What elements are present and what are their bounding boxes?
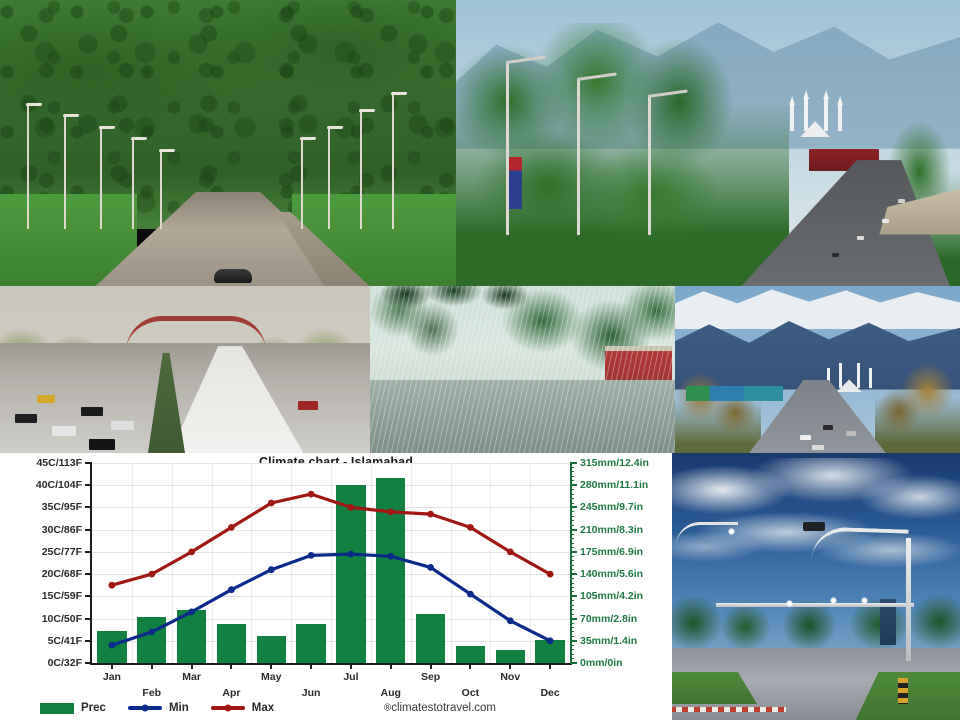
- street-lamp-icon: [328, 126, 330, 229]
- legend-label-prec: Prec: [81, 702, 106, 714]
- right-minor-tick: [570, 649, 574, 650]
- x-axis-label: Jun: [302, 687, 321, 699]
- right-minor-tick: [570, 471, 574, 472]
- bottom-axis: [90, 663, 572, 665]
- right-tick: [570, 573, 577, 575]
- right-minor-tick: [570, 560, 574, 561]
- x-axis-label: Feb: [142, 687, 161, 699]
- lamp-light-icon: [830, 597, 837, 604]
- vehicle: [298, 401, 318, 410]
- left-tick: [85, 573, 92, 575]
- x-axis-label: May: [261, 671, 281, 683]
- x-tick: [390, 663, 392, 669]
- right-minor-tick: [570, 525, 574, 526]
- climate-chart: Climate chart - Islamabad 0C/32F5C/41F10…: [0, 453, 672, 720]
- street-lamp-row: [0, 0, 456, 286]
- right-tick-label: 70mm/2.8in: [580, 613, 637, 625]
- street-lamp-icon: [132, 137, 134, 229]
- left-tick-label: 5C/41F: [48, 635, 82, 647]
- right-minor-tick: [570, 645, 574, 646]
- right-minor-tick: [570, 587, 574, 588]
- right-minor-tick: [570, 498, 574, 499]
- chart-credit: ®climatestotravel.com: [384, 702, 496, 714]
- x-tick: [310, 663, 312, 669]
- street-lamp-icon: [160, 149, 162, 229]
- x-axis-label: Jul: [343, 671, 358, 683]
- left-tick-label: 15C/59F: [42, 590, 82, 602]
- street-lamp-icon: [100, 126, 102, 229]
- street-lamp-icon: [676, 522, 738, 546]
- street-lamp-icon: [360, 109, 362, 229]
- x-axis-label: Oct: [462, 687, 480, 699]
- legend-item-min: Min: [128, 702, 189, 714]
- right-tick-label: 175mm/6.9in: [580, 546, 643, 558]
- lamp-post-banner: [509, 157, 522, 209]
- right-tick-label: 280mm/11.1in: [580, 479, 648, 491]
- left-tick: [85, 595, 92, 597]
- legend-label-min: Min: [169, 702, 189, 714]
- left-tick: [85, 529, 92, 531]
- street-lamp-icon: [577, 80, 580, 234]
- right-tick-label: 140mm/5.6in: [580, 568, 643, 580]
- gantry-camera-box: [803, 522, 825, 531]
- right-minor-tick: [570, 489, 574, 490]
- street-lamp-icon: [392, 92, 394, 229]
- min-data-point: [467, 591, 474, 598]
- legend-label-max: Max: [252, 702, 274, 714]
- x-axis-label: Dec: [540, 687, 559, 699]
- photo-boulevard-with-faisal-mosque: [456, 0, 960, 286]
- right-minor-tick: [570, 503, 574, 504]
- right-minor-tick: [570, 623, 574, 624]
- left-tick: [85, 662, 92, 664]
- right-minor-tick: [570, 543, 574, 544]
- credit-text: climatestotravel.com: [391, 702, 496, 714]
- highway-signboard: [686, 386, 783, 401]
- street-lamp-icon: [27, 103, 29, 229]
- right-minor-tick: [570, 480, 574, 481]
- right-tick-label: 35mm/1.4in: [580, 635, 637, 647]
- left-tick: [85, 484, 92, 486]
- x-tick: [191, 663, 193, 669]
- left-tick: [85, 640, 92, 642]
- vehicle: [857, 236, 864, 240]
- right-minor-tick: [570, 516, 574, 517]
- right-minor-tick: [570, 627, 574, 628]
- right-tick: [570, 662, 577, 664]
- rain-streaks: [370, 286, 675, 453]
- max-data-point: [308, 491, 315, 498]
- vehicle: [800, 435, 811, 440]
- x-tick: [509, 663, 511, 669]
- x-axis-label: Aug: [381, 687, 401, 699]
- right-minor-tick: [570, 614, 574, 615]
- max-data-point: [228, 524, 235, 531]
- max-data-point: [188, 549, 195, 556]
- x-axis-label: Jan: [103, 671, 121, 683]
- treeline: [670, 587, 960, 651]
- left-tick-label: 25C/77F: [42, 546, 82, 558]
- right-minor-tick: [570, 600, 574, 601]
- prec-swatch-icon: [40, 703, 74, 714]
- min-data-point: [109, 642, 116, 649]
- right-minor-tick: [570, 467, 574, 468]
- right-minor-tick: [570, 534, 574, 535]
- lamp-light-icon: [728, 528, 735, 535]
- right-tick-label: 315mm/12.4in: [580, 457, 649, 469]
- right-minor-tick: [570, 578, 574, 579]
- right-minor-tick: [570, 556, 574, 557]
- photo-monsoon-downpour-street: [370, 286, 675, 453]
- climate-collage-page: Climate chart - Islamabad 0C/32F5C/41F10…: [0, 0, 960, 720]
- right-minor-tick: [570, 583, 574, 584]
- street-lamp-icon: [64, 114, 66, 228]
- right-minor-tick: [570, 591, 574, 592]
- x-tick: [469, 663, 471, 669]
- max-data-point: [547, 571, 554, 578]
- right-tick: [570, 506, 577, 508]
- photo-road-through-green-hills: [0, 0, 456, 286]
- chart-plot-area: 0C/32F5C/41F10C/50F15C/59F20C/68F25C/77F…: [92, 463, 570, 663]
- max-temperature-line: [112, 494, 550, 585]
- vehicle: [882, 219, 889, 223]
- left-tick-label: 20C/68F: [42, 568, 82, 580]
- legend-item-prec: Prec: [40, 702, 106, 714]
- right-tick: [570, 462, 577, 464]
- min-data-point: [507, 617, 514, 624]
- x-axis-label: Nov: [500, 671, 520, 683]
- max-line-icon: [211, 706, 245, 710]
- max-data-point: [387, 509, 394, 516]
- max-data-point: [268, 500, 275, 507]
- min-data-point: [188, 609, 195, 616]
- photo-hailstorm-on-highway: [0, 286, 370, 453]
- right-minor-tick: [570, 569, 574, 570]
- min-data-point: [228, 586, 235, 593]
- max-data-point: [507, 549, 514, 556]
- min-data-point: [387, 553, 394, 560]
- right-minor-tick: [570, 658, 574, 659]
- vehicle: [81, 407, 103, 416]
- left-tick-label: 10C/50F: [42, 613, 82, 625]
- vehicle: [15, 414, 37, 423]
- signal-gantry-beam: [716, 603, 913, 607]
- vehicle: [812, 445, 824, 450]
- right-tick-label: 105mm/4.2in: [580, 590, 643, 602]
- x-tick: [111, 663, 113, 669]
- right-tick: [570, 529, 577, 531]
- left-tick-label: 30C/86F: [42, 524, 82, 536]
- min-data-point: [427, 564, 434, 571]
- right-minor-tick: [570, 605, 574, 606]
- max-data-point: [427, 511, 434, 518]
- x-axis-label: Apr: [222, 687, 240, 699]
- right-minor-tick: [570, 654, 574, 655]
- vehicle: [52, 426, 76, 436]
- max-data-point: [467, 524, 474, 531]
- photo-storm-clouds-over-avenue: [670, 453, 960, 720]
- left-tick-label: 35C/95F: [42, 501, 82, 513]
- vehicle: [89, 439, 115, 450]
- vehicle: [898, 199, 905, 203]
- min-line-icon: [128, 706, 162, 710]
- right-minor-tick: [570, 520, 574, 521]
- min-data-point: [308, 552, 315, 559]
- x-tick: [549, 663, 551, 669]
- street-lamp-icon: [301, 137, 303, 229]
- street-lamp-icon: [648, 97, 651, 234]
- right-minor-tick: [570, 476, 574, 477]
- x-axis-label: Sep: [421, 671, 440, 683]
- x-tick: [230, 663, 232, 669]
- left-axis: [90, 463, 92, 663]
- left-tick: [85, 462, 92, 464]
- chart-legend: Prec Min Max: [40, 702, 274, 714]
- right-tick: [570, 618, 577, 620]
- left-tick: [85, 551, 92, 553]
- right-tick: [570, 551, 577, 553]
- gantry-mast: [906, 538, 911, 661]
- right-tick: [570, 640, 577, 642]
- right-tick-label: 210mm/8.3in: [580, 524, 643, 536]
- x-tick: [151, 663, 153, 669]
- autumn-trees-right: [875, 359, 960, 453]
- vehicle: [846, 431, 856, 436]
- autumn-trees-left: [675, 366, 761, 453]
- right-minor-tick: [570, 609, 574, 610]
- right-minor-tick: [570, 494, 574, 495]
- vehicle: [111, 421, 134, 430]
- right-minor-tick: [570, 538, 574, 539]
- left-tick: [85, 506, 92, 508]
- right-tick-label: 0mm/0in: [580, 657, 623, 669]
- right-minor-tick: [570, 636, 574, 637]
- min-data-point: [148, 629, 155, 636]
- x-tick: [430, 663, 432, 669]
- legend-item-max: Max: [211, 702, 274, 714]
- right-minor-tick: [570, 547, 574, 548]
- photo-snow-capped-hills-highway: [675, 286, 960, 453]
- right-tick: [570, 595, 577, 597]
- left-tick: [85, 618, 92, 620]
- x-axis-label: Mar: [182, 671, 201, 683]
- left-tick-label: 40C/104F: [36, 479, 82, 491]
- vehicle: [832, 253, 839, 257]
- right-tick: [570, 484, 577, 486]
- striped-bollard: [898, 678, 908, 704]
- painted-curb: [670, 707, 786, 712]
- vehicle: [823, 425, 833, 430]
- left-tick-label: 45C/113F: [36, 457, 82, 469]
- faisal-mosque-icon: [784, 97, 844, 137]
- min-data-point: [547, 637, 554, 644]
- right-minor-tick: [570, 565, 574, 566]
- x-tick: [270, 663, 272, 669]
- max-data-point: [148, 571, 155, 578]
- max-data-point: [348, 504, 355, 511]
- x-tick: [350, 663, 352, 669]
- min-data-point: [268, 566, 275, 573]
- right-tick-label: 245mm/9.7in: [580, 501, 643, 513]
- temperature-lines: [92, 463, 570, 663]
- right-minor-tick: [570, 511, 574, 512]
- left-tick-label: 0C/32F: [48, 657, 82, 669]
- min-data-point: [348, 551, 355, 558]
- right-minor-tick: [570, 631, 574, 632]
- min-temperature-line: [112, 554, 550, 645]
- lamp-light-icon: [786, 600, 793, 607]
- vehicle: [37, 395, 55, 403]
- max-data-point: [109, 582, 116, 589]
